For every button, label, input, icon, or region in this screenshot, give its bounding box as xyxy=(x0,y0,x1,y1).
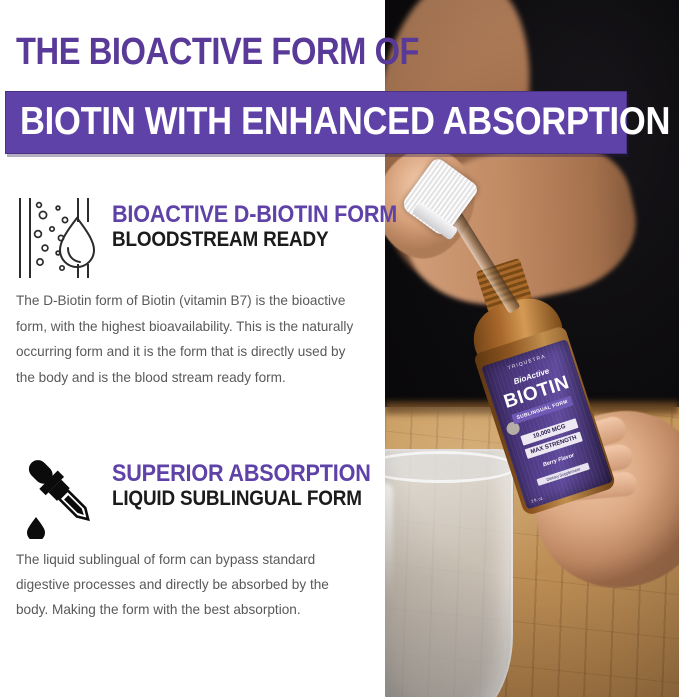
feature-title-group: SUPERIOR ABSORPTION LIQUID SUBLINGUAL FO… xyxy=(112,461,377,511)
feature-title: BIOACTIVE D-BIOTIN FORM xyxy=(112,202,351,228)
feature-body-text: The liquid sublingual of form can bypass… xyxy=(16,547,361,622)
feature-subtitle: BLOODSTREAM READY xyxy=(112,228,351,252)
feature-section-bioactive: BIOACTIVE D-BIOTIN FORM BLOODSTREAM READ… xyxy=(0,196,385,390)
headline-line-2: BIOTIN WITH ENHANCED ABSORPTION xyxy=(20,101,670,143)
photo-glass-highlight xyxy=(385,483,393,603)
photo-water-glass xyxy=(385,449,513,697)
dropper-pipette-icon xyxy=(14,455,100,539)
feature-section-absorption: SUPERIOR ABSORPTION LIQUID SUBLINGUAL FO… xyxy=(0,455,385,622)
feature-subtitle: LIQUID SUBLINGUAL FORM xyxy=(112,487,351,511)
feature-body-text: The D-Biotin form of Biotin (vitamin B7)… xyxy=(16,288,361,390)
headline-line-1: THE BIOACTIVE FORM OF xyxy=(16,32,419,72)
blood-vessel-droplet-icon xyxy=(14,196,100,280)
feature-title-group: BIOACTIVE D-BIOTIN FORM BLOODSTREAM READ… xyxy=(112,202,377,252)
feature-title: SUPERIOR ABSORPTION xyxy=(112,461,351,487)
headline-banner: BIOTIN WITH ENHANCED ABSORPTION xyxy=(5,91,627,154)
label-volume: 2 fl. oz. xyxy=(530,495,544,504)
feature-header: SUPERIOR ABSORPTION LIQUID SUBLINGUAL FO… xyxy=(0,455,385,539)
infographic-root: TRIQUETRA BioActive BIOTIN SUBLINGUAL FO… xyxy=(0,0,679,697)
feature-header: BIOACTIVE D-BIOTIN FORM BLOODSTREAM READ… xyxy=(0,196,385,280)
